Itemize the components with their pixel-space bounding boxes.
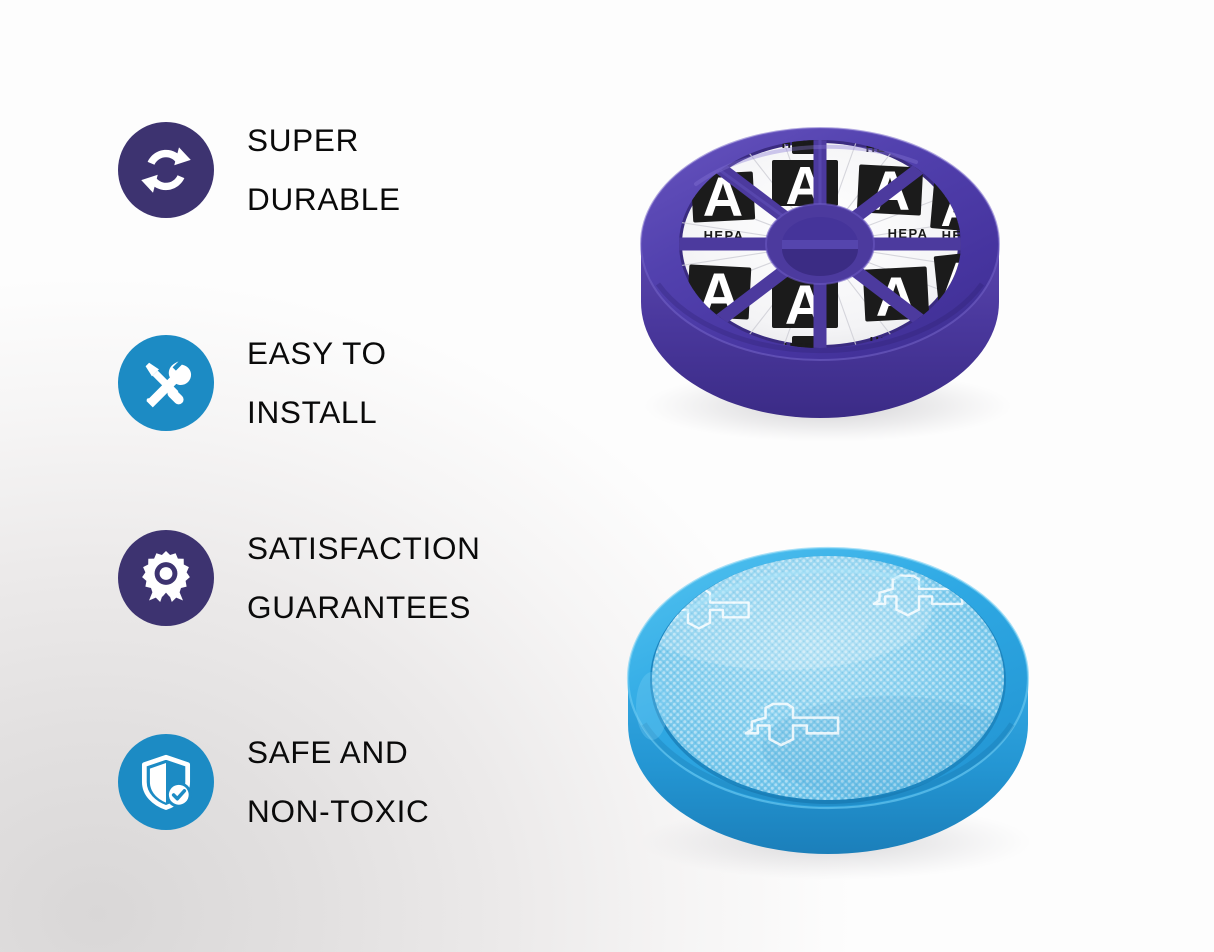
- refresh-arrows-icon: [118, 122, 214, 218]
- product-feature-graphic: SUPER DURABLE EASY TO INSTALL: [0, 0, 1214, 952]
- feature-label-super-durable: SUPER DURABLE: [247, 111, 401, 229]
- shield-check-icon: [118, 734, 214, 830]
- feature-label-line1: SUPER: [247, 122, 359, 158]
- feature-item-super-durable: SUPER DURABLE: [118, 111, 401, 229]
- wrench-screwdriver-icon: [118, 335, 214, 431]
- feature-label-line2: NON-TOXIC: [247, 782, 429, 841]
- feature-label-safe-and-non-toxic: SAFE AND NON-TOXIC: [247, 723, 429, 841]
- feature-label-line2: GUARANTEES: [247, 578, 481, 637]
- feature-label-line1: EASY TO: [247, 335, 387, 371]
- feature-item-satisfaction-guarantees: SATISFACTION GUARANTEES: [118, 519, 481, 637]
- feature-item-safe-and-non-toxic: SAFE AND NON-TOXIC: [118, 723, 429, 841]
- feature-label-line1: SAFE AND: [247, 734, 408, 770]
- feature-label-satisfaction-guarantees: SATISFACTION GUARANTEES: [247, 519, 481, 637]
- feature-label-line2: DURABLE: [247, 170, 401, 229]
- product-image-washable-pre-filter: [592, 510, 1062, 894]
- feature-label-line1: SATISFACTION: [247, 530, 481, 566]
- feature-label-easy-to-install: EASY TO INSTALL: [247, 324, 387, 442]
- feature-item-easy-to-install: EASY TO INSTALL: [118, 324, 387, 442]
- product-image-hepa-filter: A A A A A A A A HEPA HEPA HEPA HEPA HEPA…: [596, 88, 1044, 468]
- award-rosette-icon: [118, 530, 214, 626]
- feature-label-line2: INSTALL: [247, 383, 387, 442]
